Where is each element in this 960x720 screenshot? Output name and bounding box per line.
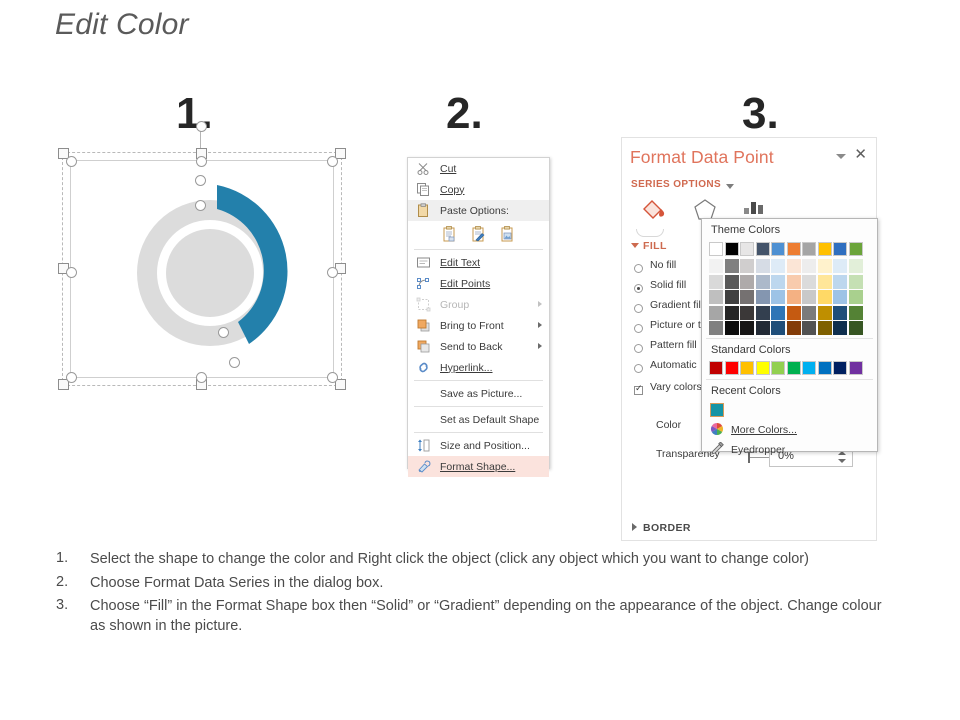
rotation-handle[interactable] bbox=[196, 121, 207, 132]
menu-separator bbox=[414, 380, 543, 381]
chevron-down-icon[interactable] bbox=[836, 154, 846, 159]
instruction-item: 3. Choose “Fill” in the Format Shape box… bbox=[56, 597, 896, 636]
menu-item-set-default-shape[interactable]: Set as Default Shape bbox=[408, 409, 549, 430]
plot-handle-s[interactable] bbox=[196, 372, 207, 383]
menu-label: Paste Options: bbox=[440, 205, 509, 217]
theme-swatch-r2-c1[interactable] bbox=[725, 290, 739, 304]
label-automatic[interactable]: Automatic bbox=[650, 359, 697, 371]
fill-bucket-icon[interactable] bbox=[641, 196, 671, 229]
theme-swatch-r3-c5[interactable] bbox=[787, 306, 801, 320]
recent-colors-header: Recent Colors bbox=[702, 380, 877, 400]
chevron-right-icon bbox=[538, 322, 542, 328]
theme-swatch-r0-c2[interactable] bbox=[740, 259, 754, 273]
theme-swatch-r3-c9[interactable] bbox=[849, 306, 863, 320]
theme-swatch-r1-c4[interactable] bbox=[771, 275, 785, 289]
theme-swatch-3[interactable] bbox=[756, 242, 770, 256]
step-number-3: 3. bbox=[742, 92, 779, 136]
eyedropper-row[interactable]: Eyedropper bbox=[702, 440, 877, 460]
instruction-text: Select the shape to change the color and… bbox=[90, 550, 809, 570]
border-section-header[interactable]: BORDER bbox=[643, 522, 691, 534]
menu-item-size-and-position[interactable]: Size and Position... bbox=[408, 435, 549, 456]
close-icon[interactable]: ✕ bbox=[854, 147, 867, 162]
plot-handle-e[interactable] bbox=[327, 267, 338, 278]
theme-swatch-r1-c3[interactable] bbox=[756, 275, 770, 289]
menu-label: Edit Points bbox=[440, 278, 490, 290]
theme-swatch-r4-c4[interactable] bbox=[771, 321, 785, 335]
active-tab-indicator bbox=[636, 229, 664, 237]
theme-swatch-r4-c8[interactable] bbox=[833, 321, 847, 335]
radio-picture-fill[interactable] bbox=[634, 324, 643, 333]
plot-handle-w[interactable] bbox=[66, 267, 77, 278]
standard-swatch-3[interactable] bbox=[756, 361, 770, 375]
theme-swatch-r3-c4[interactable] bbox=[771, 306, 785, 320]
slide-canvas: Edit Color 1. 2. 3. bbox=[0, 0, 960, 720]
instruction-number: 2. bbox=[56, 574, 90, 594]
group-icon bbox=[416, 297, 431, 312]
theme-swatch-6[interactable] bbox=[802, 242, 816, 256]
radio-pattern-fill[interactable] bbox=[634, 344, 643, 353]
paste-picture-icon[interactable] bbox=[500, 225, 516, 243]
label-solid-fill[interactable]: Solid fill bbox=[650, 279, 686, 291]
format-shape-icon bbox=[416, 459, 431, 474]
theme-swatch-9[interactable] bbox=[849, 242, 863, 256]
standard-swatch-5[interactable] bbox=[787, 361, 801, 375]
menu-item-save-as-picture[interactable]: Save as Picture... bbox=[408, 383, 549, 404]
page-title: Edit Color bbox=[55, 8, 189, 42]
theme-swatch-r3-c3[interactable] bbox=[756, 306, 770, 320]
donut-gray-inner bbox=[166, 229, 254, 317]
chevron-right-icon bbox=[538, 343, 542, 349]
theme-swatch-r0-c1[interactable] bbox=[725, 259, 739, 273]
theme-swatch-r0-c9[interactable] bbox=[849, 259, 863, 273]
theme-swatch-r0-c3[interactable] bbox=[756, 259, 770, 273]
instruction-number: 1. bbox=[56, 550, 90, 570]
color-label: Color bbox=[656, 419, 681, 431]
theme-swatch-r2-c8[interactable] bbox=[833, 290, 847, 304]
fill-expand-icon[interactable] bbox=[631, 243, 639, 248]
theme-swatch-r3-c8[interactable] bbox=[833, 306, 847, 320]
theme-swatch-r0-c7[interactable] bbox=[818, 259, 832, 273]
menu-label: Group bbox=[440, 299, 469, 311]
theme-swatch-r2-c0[interactable] bbox=[709, 290, 723, 304]
color-wheel-icon bbox=[710, 422, 724, 439]
standard-colors-row[interactable] bbox=[702, 359, 877, 379]
theme-swatch-1[interactable] bbox=[725, 242, 739, 256]
theme-swatch-0[interactable] bbox=[709, 242, 723, 256]
theme-swatch-r1-c2[interactable] bbox=[740, 275, 754, 289]
theme-swatch-r4-c7[interactable] bbox=[818, 321, 832, 335]
theme-swatch-7[interactable] bbox=[818, 242, 832, 256]
pane-title: Format Data Point bbox=[630, 147, 774, 168]
send-back-icon bbox=[416, 339, 431, 354]
theme-swatch-r4-c9[interactable] bbox=[849, 321, 863, 335]
more-colors-row[interactable]: More Colors... bbox=[702, 420, 877, 440]
paste-merge-icon[interactable] bbox=[471, 225, 487, 243]
theme-swatch-r0-c5[interactable] bbox=[787, 259, 801, 273]
recent-color-swatch[interactable] bbox=[710, 403, 724, 417]
theme-swatch-r4-c5[interactable] bbox=[787, 321, 801, 335]
theme-swatch-4[interactable] bbox=[771, 242, 785, 256]
theme-swatch-r3-c6[interactable] bbox=[802, 306, 816, 320]
theme-swatch-r0-c0[interactable] bbox=[709, 259, 723, 273]
datapoint-handle-top[interactable] bbox=[195, 175, 206, 186]
theme-swatch-r4-c3[interactable] bbox=[756, 321, 770, 335]
standard-swatch-8[interactable] bbox=[833, 361, 847, 375]
menu-label: Bring to Front bbox=[440, 320, 504, 332]
theme-swatch-r3-c2[interactable] bbox=[740, 306, 754, 320]
theme-swatch-2[interactable] bbox=[740, 242, 754, 256]
menu-label: Hyperlink... bbox=[440, 362, 493, 374]
theme-swatch-r4-c6[interactable] bbox=[802, 321, 816, 335]
menu-item-copy[interactable]: Copy bbox=[408, 179, 549, 200]
instruction-text: Choose Format Data Series in the dialog … bbox=[90, 574, 383, 594]
theme-swatch-r2-c6[interactable] bbox=[802, 290, 816, 304]
datapoint-handle-bottom[interactable] bbox=[218, 327, 229, 338]
radio-solid-fill[interactable] bbox=[634, 284, 643, 293]
eyedropper-label: Eyedropper bbox=[731, 444, 785, 456]
theme-swatch-r2-c4[interactable] bbox=[771, 290, 785, 304]
theme-swatch-r1-c9[interactable] bbox=[849, 275, 863, 289]
bring-front-icon bbox=[416, 318, 431, 333]
theme-swatch-r0-c6[interactable] bbox=[802, 259, 816, 273]
paste-options-row[interactable] bbox=[408, 221, 549, 247]
theme-colors-top-row[interactable] bbox=[702, 239, 877, 259]
label-no-fill[interactable]: No fill bbox=[650, 259, 676, 271]
standard-swatch-1[interactable] bbox=[725, 361, 739, 375]
datapoint-handle-end[interactable] bbox=[229, 357, 240, 368]
plot-handle-se[interactable] bbox=[327, 372, 338, 383]
standard-swatch-4[interactable] bbox=[771, 361, 785, 375]
clipboard-icon bbox=[416, 203, 431, 218]
menu-label: Edit Text bbox=[440, 257, 480, 269]
theme-swatch-r1-c1[interactable] bbox=[725, 275, 739, 289]
theme-swatch-r3-c7[interactable] bbox=[818, 306, 832, 320]
series-options-label[interactable]: SERIES OPTIONS bbox=[631, 179, 721, 190]
theme-swatch-r3-c1[interactable] bbox=[725, 306, 739, 320]
theme-swatch-r3-c0[interactable] bbox=[709, 306, 723, 320]
context-menu[interactable]: Cut Copy Paste Options: bbox=[407, 157, 550, 469]
copy-icon bbox=[416, 182, 431, 197]
menu-separator bbox=[414, 432, 543, 433]
theme-swatch-r1-c8[interactable] bbox=[833, 275, 847, 289]
menu-item-format-shape[interactable]: Format Shape... bbox=[408, 456, 549, 477]
instructions-list: 1. Select the shape to change the color … bbox=[56, 550, 896, 641]
standard-swatch-6[interactable] bbox=[802, 361, 816, 375]
menu-label: Copy bbox=[440, 184, 465, 196]
size-position-icon bbox=[416, 438, 431, 453]
standard-swatch-9[interactable] bbox=[849, 361, 863, 375]
hyperlink-icon bbox=[416, 360, 431, 375]
label-pattern-fill[interactable]: Pattern fill bbox=[650, 339, 697, 351]
border-expand-icon[interactable] bbox=[632, 523, 637, 531]
menu-label: Cut bbox=[440, 163, 456, 175]
paste-keep-formatting-icon[interactable] bbox=[442, 225, 458, 243]
label-gradient-fill[interactable]: Gradient fill bbox=[650, 299, 703, 311]
donut-chart[interactable] bbox=[122, 178, 312, 368]
theme-swatch-r1-c5[interactable] bbox=[787, 275, 801, 289]
theme-swatch-r2-c3[interactable] bbox=[756, 290, 770, 304]
standard-swatch-7[interactable] bbox=[818, 361, 832, 375]
plot-handle-nw[interactable] bbox=[66, 156, 77, 167]
theme-swatch-r0-c4[interactable] bbox=[771, 259, 785, 273]
datapoint-handle-top2[interactable] bbox=[195, 200, 206, 211]
theme-swatch-r1-c6[interactable] bbox=[802, 275, 816, 289]
theme-swatch-r2-c2[interactable] bbox=[740, 290, 754, 304]
theme-swatch-r1-c7[interactable] bbox=[818, 275, 832, 289]
scissors-icon bbox=[416, 161, 431, 176]
checkbox-vary-colors[interactable] bbox=[634, 386, 643, 395]
theme-colors-header: Theme Colors bbox=[702, 219, 877, 239]
menu-item-send-to-back[interactable]: Send to Back bbox=[408, 336, 549, 357]
radio-no-fill[interactable] bbox=[634, 264, 643, 273]
menu-item-edit-points[interactable]: Edit Points bbox=[408, 273, 549, 294]
chevron-right-icon bbox=[538, 301, 542, 307]
menu-label: Size and Position... bbox=[440, 440, 530, 452]
menu-item-hyperlink[interactable]: Hyperlink... bbox=[408, 357, 549, 378]
theme-swatch-r1-c0[interactable] bbox=[709, 275, 723, 289]
radio-gradient-fill[interactable] bbox=[634, 304, 643, 313]
menu-label: Format Shape... bbox=[440, 461, 515, 473]
theme-swatch-5[interactable] bbox=[787, 242, 801, 256]
theme-swatch-r0-c8[interactable] bbox=[833, 259, 847, 273]
edit-points-icon bbox=[416, 276, 431, 291]
theme-swatch-r4-c1[interactable] bbox=[725, 321, 739, 335]
theme-swatch-r2-c7[interactable] bbox=[818, 290, 832, 304]
menu-separator bbox=[414, 249, 543, 250]
menu-item-cut[interactable]: Cut bbox=[408, 158, 549, 179]
standard-swatch-0[interactable] bbox=[709, 361, 723, 375]
theme-swatch-8[interactable] bbox=[833, 242, 847, 256]
instruction-item: 2. Choose Format Data Series in the dial… bbox=[56, 574, 896, 594]
menu-label: Set as Default Shape bbox=[440, 414, 539, 426]
menu-item-paste-options[interactable]: Paste Options: bbox=[408, 200, 549, 221]
plot-handle-n[interactable] bbox=[196, 156, 207, 167]
fill-section-header[interactable]: FILL bbox=[643, 240, 667, 252]
standard-swatch-2[interactable] bbox=[740, 361, 754, 375]
instruction-text: Choose “Fill” in the Format Shape box th… bbox=[90, 597, 896, 636]
color-palette-dropdown[interactable]: Theme Colors Standard Colors Recent Colo… bbox=[701, 218, 878, 452]
series-options-chevron-icon[interactable] bbox=[726, 184, 734, 189]
eyedropper-icon bbox=[710, 442, 724, 459]
step-number-1: 1. bbox=[176, 92, 213, 136]
radio-automatic[interactable] bbox=[634, 364, 643, 373]
theme-swatch-r2-c5[interactable] bbox=[787, 290, 801, 304]
menu-label: Save as Picture... bbox=[440, 388, 522, 400]
more-colors-label: More Colors... bbox=[731, 424, 797, 436]
menu-item-edit-text[interactable]: Edit Text bbox=[408, 252, 549, 273]
menu-label: Send to Back bbox=[440, 341, 502, 353]
theme-colors-variant-rows[interactable] bbox=[702, 259, 877, 338]
theme-swatch-r2-c9[interactable] bbox=[849, 290, 863, 304]
menu-item-group[interactable]: Group bbox=[408, 294, 549, 315]
instruction-item: 1. Select the shape to change the color … bbox=[56, 550, 896, 570]
menu-item-bring-to-front[interactable]: Bring to Front bbox=[408, 315, 549, 336]
standard-colors-header: Standard Colors bbox=[702, 339, 877, 359]
edit-text-icon bbox=[416, 255, 431, 270]
theme-swatch-r4-c2[interactable] bbox=[740, 321, 754, 335]
step-number-2: 2. bbox=[446, 92, 483, 136]
instruction-number: 3. bbox=[56, 597, 90, 636]
plot-handle-sw[interactable] bbox=[66, 372, 77, 383]
plot-handle-ne[interactable] bbox=[327, 156, 338, 167]
menu-separator bbox=[414, 406, 543, 407]
theme-swatch-r4-c0[interactable] bbox=[709, 321, 723, 335]
